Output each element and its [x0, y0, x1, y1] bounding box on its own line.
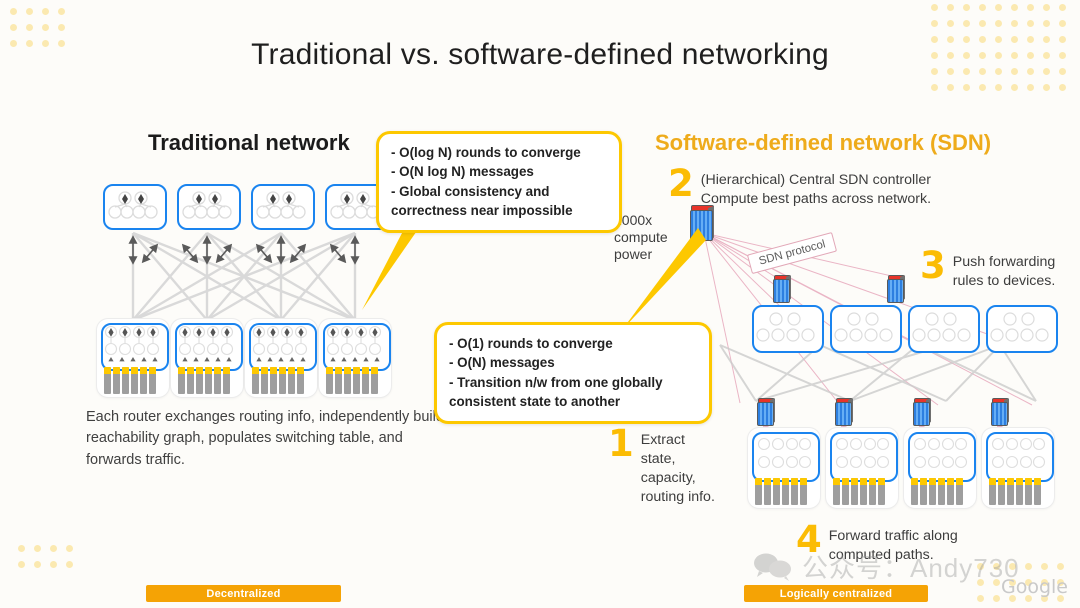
- server-rack: [755, 478, 807, 505]
- google-logo: Google: [1001, 576, 1068, 598]
- step-line: (Hierarchical) Central SDN controller: [701, 171, 931, 190]
- sdn-pod-row: [748, 398, 1060, 516]
- pod-controller-icon: [912, 398, 932, 425]
- pod-controller-icon: [834, 398, 854, 425]
- switch-graph: [832, 307, 896, 347]
- router-graph: [253, 186, 309, 224]
- callout-line: correctness near impossible: [391, 201, 607, 220]
- sdn-heading: Software-defined network (SDN): [655, 130, 991, 156]
- callout-line: consistent state to another: [449, 392, 697, 411]
- step-text: Push forwarding rules to devices.: [953, 250, 1056, 291]
- server-rack: [989, 478, 1041, 505]
- traditional-callout: - O(log N) rounds to converge - O(N log …: [376, 131, 622, 233]
- step-number: 2: [668, 168, 694, 201]
- logically-centralized-banner: Logically centralized: [744, 585, 928, 602]
- local-controller-icon: [772, 275, 792, 302]
- step-3: 3 Push forwarding rules to devices.: [920, 250, 1055, 291]
- pod-fabric: [986, 432, 1050, 480]
- step-line: rules to devices.: [953, 272, 1056, 291]
- compute-power-note: 1000x compute power: [614, 212, 668, 263]
- step-text: Extract state, capacity, routing info.: [641, 428, 715, 507]
- slide-canvas: Traditional vs. software-defined network…: [0, 0, 1080, 608]
- server-rack: [252, 367, 304, 394]
- step-number: 1: [608, 428, 634, 461]
- sdn-callout: - O(1) rounds to converge - O(N) message…: [434, 322, 712, 424]
- step-line: capacity,: [641, 469, 715, 488]
- server-rack: [104, 367, 156, 394]
- pod-fabric: [752, 432, 816, 480]
- traditional-pod: [171, 319, 243, 397]
- pod-fabric: [249, 323, 313, 369]
- step-line: Push forwarding: [953, 253, 1056, 272]
- traditional-topology: [95, 185, 395, 400]
- sdn-switch: [830, 305, 902, 353]
- spine-router: [251, 184, 315, 230]
- traditional-description: Each router exchanges routing info, inde…: [86, 407, 456, 471]
- callout-line: - Transition n/w from one globally: [449, 373, 697, 392]
- step-text: (Hierarchical) Central SDN controller Co…: [701, 168, 931, 209]
- sdn-pod: [826, 428, 898, 508]
- pod-fabric: [101, 323, 165, 369]
- decentralized-banner: Decentralized: [146, 585, 341, 602]
- step-line: Forward traffic along: [829, 527, 958, 546]
- router-graph: [105, 186, 161, 224]
- sdn-switch: [908, 305, 980, 353]
- step-line: Compute best paths across network.: [701, 190, 931, 209]
- server-rack: [326, 367, 378, 394]
- pod-fabric: [908, 432, 972, 480]
- callout-line: - O(N log N) messages: [391, 162, 607, 181]
- decor-dots-bottom-left: [18, 545, 73, 568]
- traditional-pod: [245, 319, 317, 397]
- step-line: routing info.: [641, 488, 715, 507]
- callout-line: - O(N) messages: [449, 353, 697, 372]
- callout-line: - O(1) rounds to converge: [449, 334, 697, 353]
- sdn-pod: [982, 428, 1054, 508]
- sdn-switch: [986, 305, 1058, 353]
- sdn-switch: [752, 305, 824, 353]
- step-number: 3: [920, 250, 946, 283]
- watermark: 公众号：Andy730: [752, 548, 1020, 585]
- router-graph: [179, 186, 235, 224]
- traditional-pod: [319, 319, 391, 397]
- pod-controller-icon: [990, 398, 1010, 425]
- callout-line: - O(log N) rounds to converge: [391, 143, 607, 162]
- sdn-switch-row: [752, 305, 1062, 355]
- switch-graph: [754, 307, 818, 347]
- compute-power-line: power: [614, 246, 668, 263]
- pod-fabric: [830, 432, 894, 480]
- local-controller-icon: [886, 275, 906, 302]
- switch-graph: [988, 307, 1052, 347]
- wechat-icon: [752, 552, 794, 582]
- watermark-text: 公众号：Andy730: [802, 548, 1020, 585]
- sdn-pod: [748, 428, 820, 508]
- traditional-pod: [97, 319, 169, 397]
- spine-router: [177, 184, 241, 230]
- switch-graph: [910, 307, 974, 347]
- pod-controller-icon: [756, 398, 776, 425]
- slide-title: Traditional vs. software-defined network…: [0, 38, 1080, 72]
- step-line: state,: [641, 450, 715, 469]
- sdn-pod: [904, 428, 976, 508]
- server-rack: [911, 478, 963, 505]
- compute-power-line: compute: [614, 229, 668, 246]
- step-1: 1 Extract state, capacity, routing info.: [608, 428, 715, 507]
- server-rack: [833, 478, 885, 505]
- callout-line: - Global consistency and: [391, 182, 607, 201]
- traditional-heading: Traditional network: [148, 130, 350, 156]
- pod-fabric: [175, 323, 239, 369]
- spine-router: [103, 184, 167, 230]
- server-rack: [178, 367, 230, 394]
- compute-power-line: 1000x: [614, 212, 668, 229]
- step-line: Extract: [641, 431, 715, 450]
- step-2: 2 (Hierarchical) Central SDN controller …: [668, 168, 931, 209]
- pod-fabric: [323, 323, 387, 369]
